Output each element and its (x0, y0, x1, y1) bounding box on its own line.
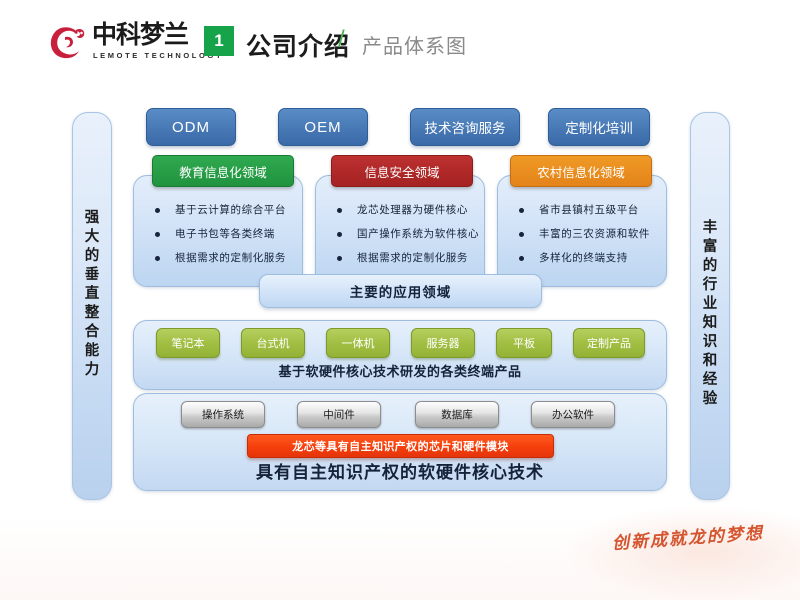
domain-card-security: 龙芯处理器为硬件核心 国产操作系统为软件核心 根据需求的定制化服务 (315, 175, 485, 287)
list-item: 多样化的终端支持 (507, 246, 659, 270)
slide-canvas: 中科梦兰 LEMOTE TECHNOLOGY 1 公司介绍 / 产品体系图 强 … (0, 0, 800, 600)
pillar-left-label: 强 大 的 垂 直 整 合 能 力 (73, 209, 111, 380)
company-logo: 中科梦兰 LEMOTE TECHNOLOGY (45, 18, 195, 66)
list-item: 国产操作系统为软件核心 (325, 222, 477, 246)
service-pill-consulting[interactable]: 技术咨询服务 (410, 108, 520, 146)
pillar-vertical-integration: 强 大 的 垂 直 整 合 能 力 (72, 112, 112, 500)
pillar-right-char: 经 (691, 371, 729, 390)
dragon-c-logo-icon (45, 20, 89, 64)
product-pill-all-in-one[interactable]: 一体机 (326, 328, 390, 358)
page-title: 公司介绍 (246, 27, 350, 63)
product-pill-server[interactable]: 服务器 (411, 328, 475, 358)
domain-header-education: 教育信息化领域 (152, 155, 294, 187)
pillar-left-char: 力 (73, 361, 111, 380)
domain-card-rural: 省市县镇村五级平台 丰富的三农资源和软件 多样化的终端支持 (497, 175, 667, 287)
pillar-left-char: 直 (73, 285, 111, 304)
software-pill-middleware[interactable]: 中间件 (297, 401, 381, 428)
pillar-right-char: 验 (691, 390, 729, 409)
core-technology-block: 操作系统 中间件 数据库 办公软件 龙芯等具有自主知识产权的芯片和硬件模块 具有… (133, 393, 667, 491)
pillar-left-char: 强 (73, 209, 111, 228)
list-item: 电子书包等各类终端 (143, 222, 295, 246)
pillar-right-char: 行 (691, 276, 729, 295)
list-item: 省市县镇村五级平台 (507, 198, 659, 222)
list-item: 根据需求的定制化服务 (325, 246, 477, 270)
page-subtitle: 产品体系图 (362, 30, 467, 59)
service-pill-training[interactable]: 定制化培训 (548, 108, 650, 146)
domain-header-security: 信息安全领域 (331, 155, 473, 187)
terminal-products-caption: 基于软硬件核心技术研发的各类终端产品 (134, 361, 666, 380)
terminal-products-block: 笔记本 台式机 一体机 服务器 平板 定制产品 基于软硬件核心技术研发的各类终端… (133, 320, 667, 390)
list-item: 丰富的三农资源和软件 (507, 222, 659, 246)
logo-chinese-name: 中科梦兰 (92, 21, 188, 49)
software-pill-office[interactable]: 办公软件 (531, 401, 615, 428)
section-number-badge: 1 (204, 26, 234, 56)
pillar-right-char: 和 (691, 352, 729, 371)
pillar-left-char: 的 (73, 247, 111, 266)
list-item: 基于云计算的综合平台 (143, 198, 295, 222)
domain-card-education: 基于云计算的综合平台 电子书包等各类终端 根据需求的定制化服务 (133, 175, 303, 287)
product-pill-notebook[interactable]: 笔记本 (156, 328, 220, 358)
pillar-right-char: 知 (691, 314, 729, 333)
title-separator: / (338, 26, 345, 54)
slide-header: 中科梦兰 LEMOTE TECHNOLOGY 1 公司介绍 / 产品体系图 (0, 0, 800, 82)
pillar-right-char: 的 (691, 257, 729, 276)
list-item: 龙芯处理器为硬件核心 (325, 198, 477, 222)
pillar-left-char: 大 (73, 228, 111, 247)
software-pill-os[interactable]: 操作系统 (181, 401, 265, 428)
domain-header-rural: 农村信息化领域 (510, 155, 652, 187)
service-pill-odm[interactable]: ODM (146, 108, 236, 146)
pillar-left-char: 垂 (73, 266, 111, 285)
pillar-right-char: 识 (691, 333, 729, 352)
domain-bullet-list: 基于云计算的综合平台 电子书包等各类终端 根据需求的定制化服务 (143, 198, 295, 270)
pillar-left-char: 合 (73, 323, 111, 342)
chip-hardware-band: 龙芯等具有自主知识产权的芯片和硬件模块 (247, 434, 554, 458)
pillar-right-label: 丰 富 的 行 业 知 识 和 经 验 (691, 219, 729, 409)
pillar-industry-knowledge: 丰 富 的 行 业 知 识 和 经 验 (690, 112, 730, 500)
product-pill-custom[interactable]: 定制产品 (573, 328, 645, 358)
software-pill-database[interactable]: 数据库 (415, 401, 499, 428)
product-pill-desktop[interactable]: 台式机 (241, 328, 305, 358)
application-domains-band: 主要的应用领域 (259, 274, 542, 308)
domain-bullet-list: 省市县镇村五级平台 丰富的三农资源和软件 多样化的终端支持 (507, 198, 659, 270)
pillar-right-char: 富 (691, 238, 729, 257)
pillar-right-char: 业 (691, 295, 729, 314)
pillar-right-char: 丰 (691, 219, 729, 238)
product-pill-tablet[interactable]: 平板 (496, 328, 552, 358)
list-item: 根据需求的定制化服务 (143, 246, 295, 270)
slogan-background-wash (560, 505, 800, 600)
domain-bullet-list: 龙芯处理器为硬件核心 国产操作系统为软件核心 根据需求的定制化服务 (325, 198, 477, 270)
service-pill-oem[interactable]: OEM (278, 108, 368, 146)
core-technology-caption: 具有自主知识产权的软硬件核心技术 (134, 458, 666, 483)
pillar-left-char: 能 (73, 342, 111, 361)
pillar-left-char: 整 (73, 304, 111, 323)
